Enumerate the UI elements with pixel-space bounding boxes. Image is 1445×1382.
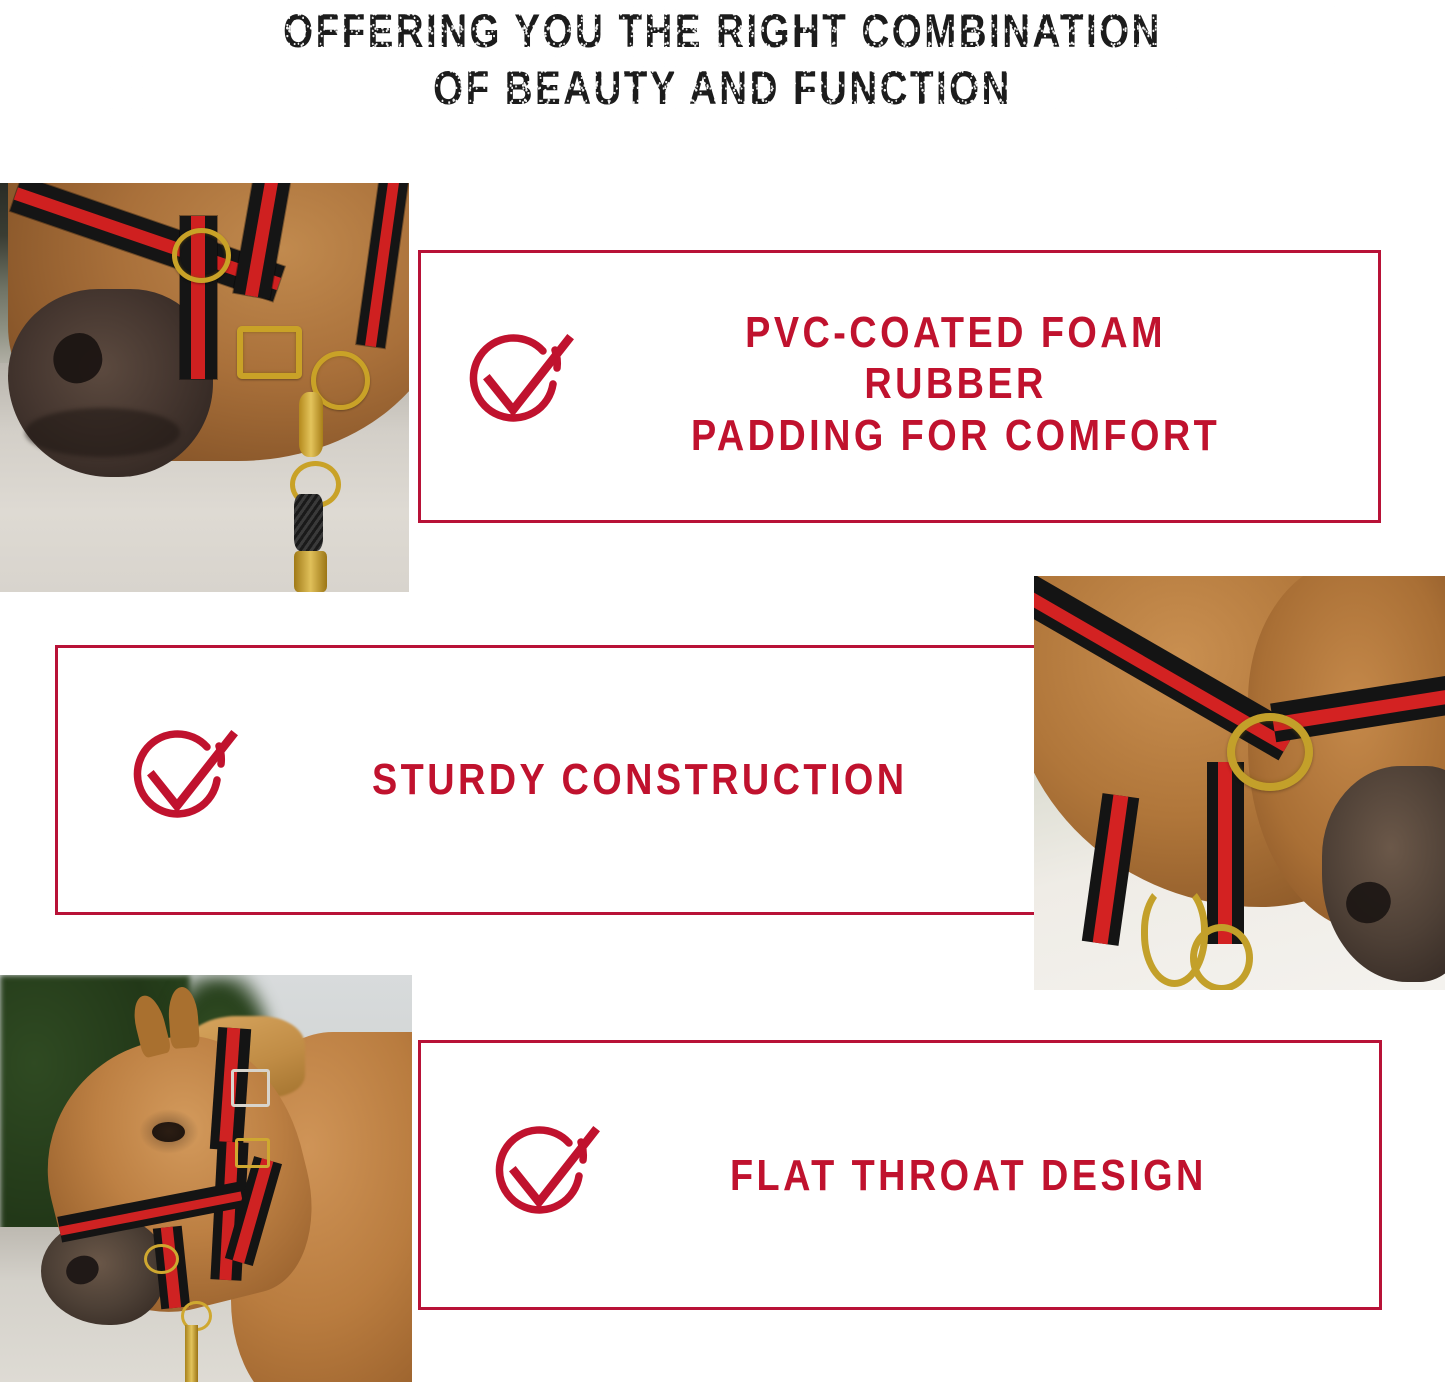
brass-ring-hardware — [172, 228, 231, 283]
brass-buckle-hardware — [237, 326, 302, 379]
check-circle-icon — [458, 324, 574, 445]
page-title-line-2: OF BEAUTY AND FUNCTION — [130, 59, 1315, 116]
horse-eye — [152, 1122, 185, 1142]
brass-square-ring-hardware — [235, 1138, 270, 1168]
page-title: OFFERING YOU THE RIGHT COMBINATION OF BE… — [130, 2, 1315, 116]
feature-row-flat-throat-design: FLAT THROAT DESIGN — [484, 1118, 1364, 1234]
lead-rope-snap — [185, 1325, 197, 1382]
lead-rope — [294, 494, 323, 551]
check-circle-icon — [484, 1116, 600, 1237]
horse-lip-shape — [25, 408, 180, 457]
brass-square-ring-hardware — [1227, 713, 1313, 791]
feature-label-flat-throat-design: FLAT THROAT DESIGN — [730, 1150, 1207, 1201]
brass-snap-clip — [299, 392, 324, 457]
lead-rope-ferrule — [294, 551, 327, 592]
feature-label-pvc-coated-foam-rubber-padding: PVC-COATED FOAM RUBBER PADDING FOR COMFO… — [652, 307, 1259, 460]
photo-horse-muzzle-halter-closeup — [0, 183, 409, 592]
halter-lower-strap — [1207, 762, 1244, 944]
infographic-root: OFFERING YOU THE RIGHT COMBINATION OF BE… — [0, 0, 1445, 1382]
brass-o-ring-hardware — [144, 1244, 179, 1274]
check-circle-icon — [122, 720, 238, 841]
feature-label-sturdy-construction: STURDY CONSTRUCTION — [372, 754, 908, 805]
feature-row-sturdy-construction: STURDY CONSTRUCTION — [122, 722, 1022, 838]
page-title-line-1: OFFERING YOU THE RIGHT COMBINATION — [130, 2, 1315, 59]
feature-row-pvc-coated-foam-rubber-padding: PVC-COATED FOAM RUBBER PADDING FOR COMFO… — [458, 322, 1358, 446]
photo-halter-cheek-ring-closeup — [1034, 576, 1445, 990]
photo-horse-head-profile-halter — [0, 975, 412, 1382]
brass-o-ring-hardware — [1190, 924, 1253, 990]
halter-crown-buckle — [231, 1069, 270, 1108]
